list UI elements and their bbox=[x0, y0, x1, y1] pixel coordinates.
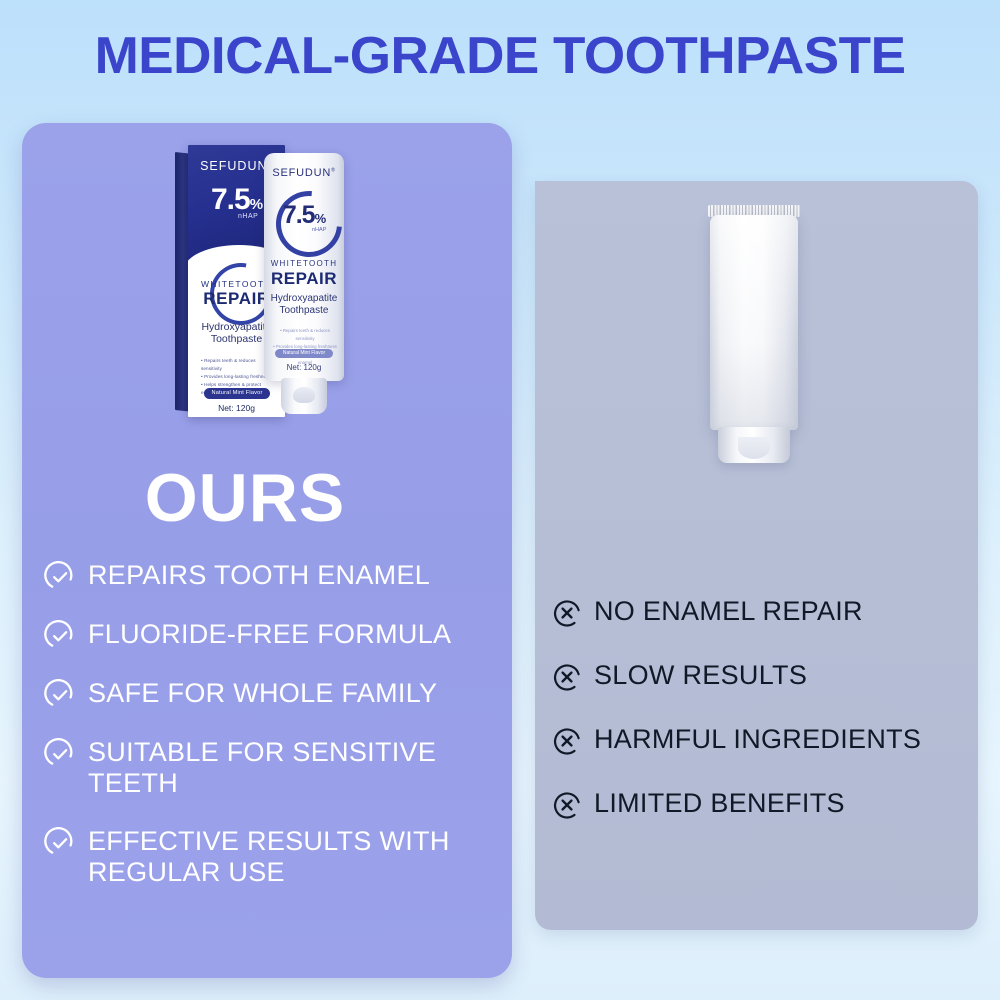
infographic-canvas: MEDICAL-GRADE TOOTHPASTE OTHERS NO ENAME… bbox=[0, 0, 1000, 1000]
carton-percent-value: 7.5 bbox=[211, 183, 250, 216]
ours-feature-list: REPAIRS TOOTH ENAMEL FLUORIDE-FREE FORMU… bbox=[44, 560, 484, 914]
list-item-label: HARMFUL INGREDIENTS bbox=[594, 724, 921, 755]
tube-net-weight: Net: 120g bbox=[258, 363, 350, 372]
list-item-label: SAFE FOR WHOLE FAMILY bbox=[88, 678, 437, 709]
tube-flavor-badge: Natural Mint Flavor bbox=[275, 349, 333, 358]
tube-brand-text: SEFUDUN bbox=[272, 167, 331, 179]
product-tube: SEFUDUN® 7.5% nHAP WHITETOOTH REPAIR Hyd… bbox=[258, 153, 350, 425]
tube-line-main: REPAIR bbox=[258, 269, 350, 289]
tube-highlight bbox=[710, 215, 798, 430]
list-item-label: SUITABLE FOR SENSITIVE TEETH bbox=[88, 737, 484, 800]
tube-percent-value: 7.5 bbox=[283, 201, 315, 229]
list-item-label: REPAIRS TOOTH ENAMEL bbox=[88, 560, 430, 591]
check-circle-icon bbox=[44, 679, 76, 711]
x-circle-icon bbox=[552, 726, 582, 756]
tube-line-top: WHITETOOTH bbox=[258, 259, 350, 268]
list-item: REPAIRS TOOTH ENAMEL bbox=[44, 560, 484, 593]
page-title: MEDICAL-GRADE TOOTHPASTE bbox=[0, 26, 1000, 86]
check-circle-icon bbox=[44, 561, 76, 593]
tube-bullets: • Repairs teeth & reduces sensitivity • … bbox=[270, 327, 340, 367]
carton-side-panel bbox=[175, 152, 189, 411]
list-item: SAFE FOR WHOLE FAMILY bbox=[44, 678, 484, 711]
tube-percent: 7.5% bbox=[258, 203, 350, 228]
check-circle-icon bbox=[44, 738, 76, 770]
tube-percent-symbol: % bbox=[315, 211, 326, 226]
check-circle-icon bbox=[44, 620, 76, 652]
ours-heading: OURS bbox=[0, 464, 490, 532]
tube-ingredient-code: nHAP bbox=[312, 227, 326, 233]
list-item-label: LIMITED BENEFITS bbox=[594, 788, 845, 819]
list-item: HARMFUL INGREDIENTS bbox=[552, 724, 962, 756]
product-tube-cap bbox=[281, 378, 327, 414]
list-item: SUITABLE FOR SENSITIVE TEETH bbox=[44, 737, 484, 800]
list-item-label: EFFECTIVE RESULTS WITH REGULAR USE bbox=[88, 826, 484, 889]
list-item-label: NO ENAMEL REPAIR bbox=[594, 596, 863, 627]
tube-brand: SEFUDUN® bbox=[258, 167, 350, 179]
ours-product-image: SEFUDUN® 7.5% nHAP WHITETOOTH REPAIR Hyd… bbox=[150, 145, 400, 430]
list-item: NO ENAMEL REPAIR bbox=[552, 596, 962, 628]
tube-subtitle: Hydroxyapatite Toothpaste bbox=[258, 293, 350, 317]
list-item: EFFECTIVE RESULTS WITH REGULAR USE bbox=[44, 826, 484, 889]
list-item-label: FLUORIDE-FREE FORMULA bbox=[88, 619, 451, 650]
others-feature-list: NO ENAMEL REPAIR SLOW RESULTS HARMFUL IN… bbox=[552, 596, 962, 852]
list-item: LIMITED BENEFITS bbox=[552, 788, 962, 820]
list-item: SLOW RESULTS bbox=[552, 660, 962, 692]
x-circle-icon bbox=[552, 790, 582, 820]
tube-cap-notch bbox=[738, 437, 770, 459]
x-circle-icon bbox=[552, 598, 582, 628]
generic-toothpaste-tube bbox=[694, 205, 814, 465]
list-item-label: SLOW RESULTS bbox=[594, 660, 807, 691]
list-item: FLUORIDE-FREE FORMULA bbox=[44, 619, 484, 652]
tube-brand-mark: ® bbox=[331, 167, 335, 173]
x-circle-icon bbox=[552, 662, 582, 692]
check-circle-icon bbox=[44, 827, 76, 859]
